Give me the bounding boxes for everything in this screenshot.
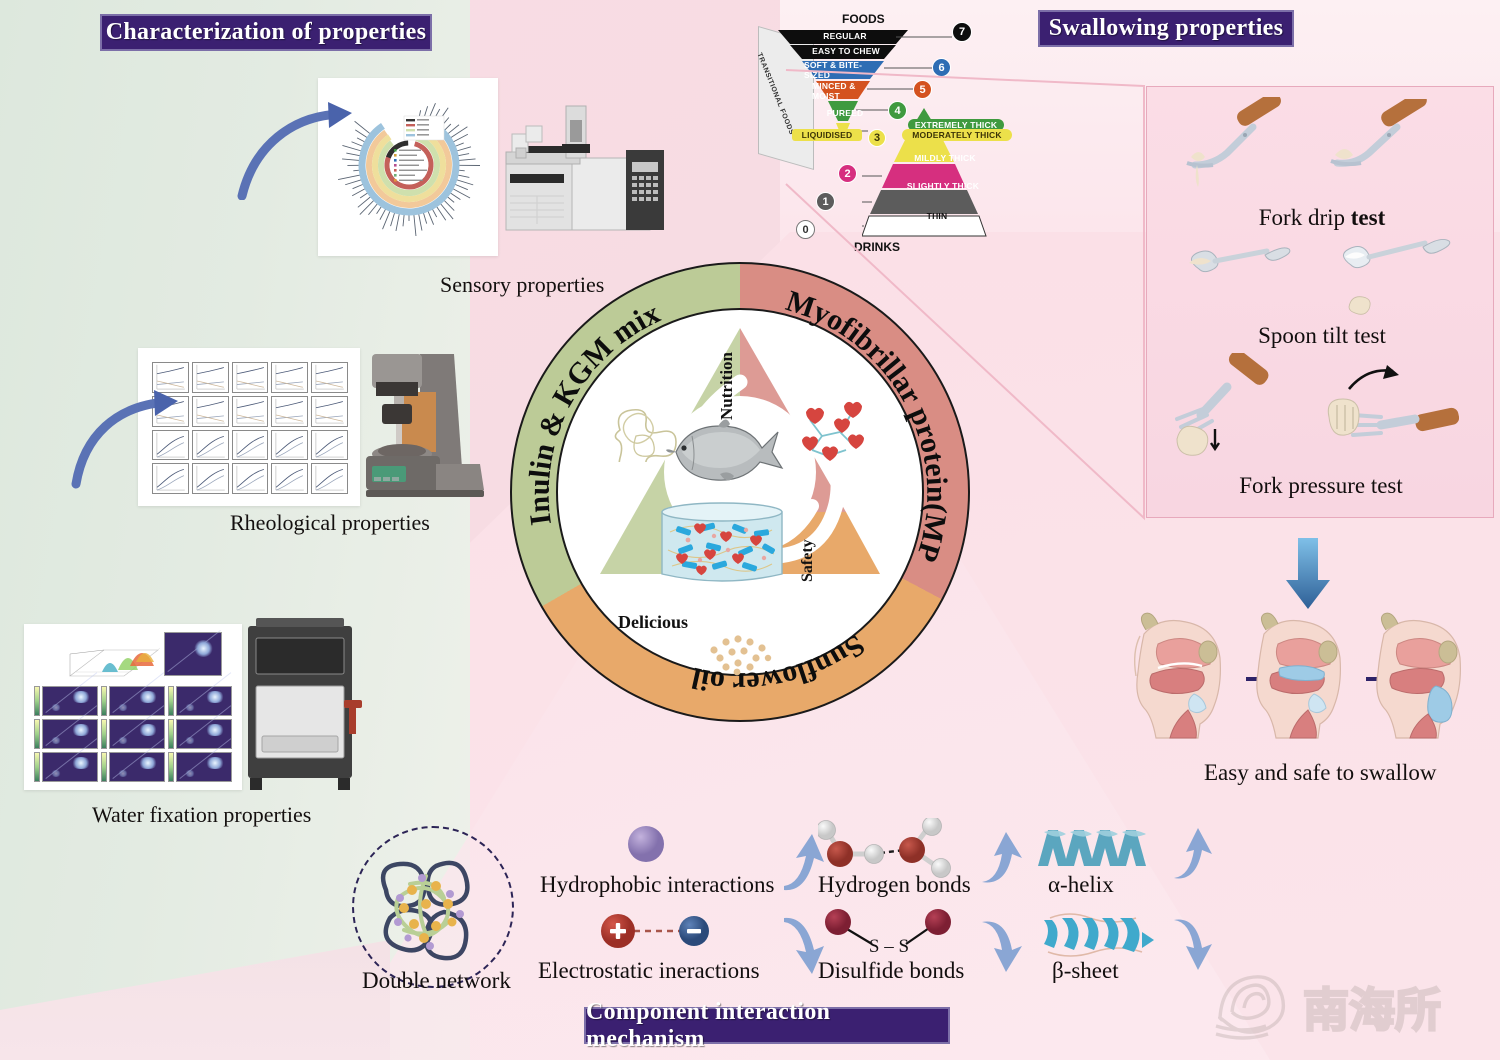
iddsi-badge-6: 6 (932, 58, 951, 77)
iddsi-framework-diagram: FOODS DRINKS TRANSITIONAL FOODS (756, 12, 1018, 258)
spoon-tilt-icon (1173, 239, 1293, 285)
rheology-mini-plot (311, 430, 348, 461)
fork-drip-test-label-bold: test (1351, 205, 1385, 230)
colorbar (168, 686, 174, 716)
caption-easy-safe-swallow: Easy and safe to swallow (1204, 760, 1437, 786)
swallow-stage-2-head (1248, 610, 1358, 740)
colorbar (168, 719, 174, 749)
colorbar (101, 686, 107, 716)
fork-pressure-test-label: Fork pressure test (1201, 473, 1441, 499)
nmr-analyzer-instrument (240, 616, 368, 792)
iddsi-drinks-header: DRINKS (854, 240, 900, 254)
rheology-mini-plot (311, 362, 348, 393)
rheology-mini-plot (232, 396, 269, 427)
caption-water-fixation-properties: Water fixation properties (92, 802, 311, 828)
iddsi-food-label-minced-moist: MINCED & MOIST (812, 85, 882, 97)
gc-ms-instrument (502, 104, 674, 242)
correlation-heatmap-cell (34, 752, 98, 782)
rheology-mini-plot (192, 430, 229, 461)
svg-text:S – S: S – S (869, 936, 909, 957)
central-formulation-wheel: Inulin & KGM mixture Myofibrillar protei… (510, 262, 970, 722)
beta-sheet-label: β-sheet (1052, 958, 1119, 984)
iddsi-badge-4: 4 (888, 101, 907, 120)
correlation-heatmap (176, 752, 232, 782)
down-arrow-icon (1285, 538, 1331, 610)
water-fixation-heatmap-grid (34, 686, 232, 782)
electrostatic-interactions-label: Electrostatic ineractions (538, 958, 760, 984)
spoon-tilt-empty-icon (1329, 233, 1453, 279)
swallow-stage-1-head (1128, 610, 1238, 740)
mech-arrow-down-2-icon (978, 914, 1026, 976)
iddsi-badge-1: 1 (816, 192, 835, 211)
disulfide-bond-icon: S – S (820, 908, 960, 962)
iddsi-drink-label-mildly-thick: MILDLY THICK (902, 152, 988, 164)
iddsi-badge-2: 2 (838, 164, 857, 183)
fork-drip-icon (1165, 97, 1295, 197)
rheology-mini-plot (232, 430, 269, 461)
rheology-mini-plot (232, 463, 269, 494)
correlation-heatmap-cell (168, 752, 232, 782)
3d-surface-plot (62, 632, 166, 684)
iddsi-foods-header: FOODS (842, 12, 885, 26)
caption-rheological-properties: Rheological properties (230, 510, 430, 536)
fork-drip-no-drip-icon (1307, 99, 1439, 189)
fish-illustration (658, 412, 786, 486)
correlation-heatmap (42, 752, 98, 782)
flow-arrow-to-rheology-icon (70, 380, 180, 490)
hydrogen-bond-icon (818, 818, 968, 878)
iddsi-drink-label-slightly-thick: SLIGHTLY THICK (896, 180, 990, 192)
fork-pressure-flattened-icon (1319, 363, 1459, 467)
rheology-mini-plot (271, 396, 308, 427)
iddsi-food-label-easy-to-chew: EASY TO CHEW (796, 45, 896, 57)
sensory-radial-chart (338, 94, 480, 236)
heatmap-thumb (164, 632, 222, 676)
rheology-mini-plot (271, 362, 308, 393)
fork-pressure-icon (1171, 353, 1301, 463)
swallow-stage-3-head (1368, 610, 1478, 740)
iddsi-badge-3: 3 (868, 129, 886, 147)
rheology-mini-plot (192, 463, 229, 494)
flow-arrow-to-sensory-icon (236, 100, 354, 200)
gel-beaker-illustration (654, 500, 790, 590)
graphical-abstract: Characterization of properties Swallowin… (0, 0, 1500, 1060)
oil-droplet-cluster-icon (706, 634, 780, 676)
beta-sheet-icon (1034, 908, 1162, 962)
colorbar (101, 719, 107, 749)
correlation-heatmap-cell (101, 752, 165, 782)
colorbar (101, 752, 107, 782)
iddsi-badge-5: 5 (913, 80, 932, 99)
alpha-helix-label: α-helix (1048, 872, 1114, 898)
hydrophobic-interactions-label: Hydrophobic interactions (540, 872, 774, 898)
hydrophobic-sphere-icon (624, 822, 668, 866)
rheometer-instrument (358, 348, 486, 502)
rheology-mini-plot (192, 362, 229, 393)
section-title-mechanism: Component interaction mechanism (584, 1007, 950, 1044)
correlation-heatmap (109, 752, 165, 782)
colorbar (34, 686, 40, 716)
fork-drip-test-label-plain: Fork drip (1259, 205, 1351, 230)
rheology-mini-plot (311, 396, 348, 427)
iddsi-food-label-regular: REGULAR (790, 30, 900, 42)
iddsi-food-label-soft-bite-sized: SOFT & BITE-SIZED (804, 64, 886, 76)
rheology-mini-plot (192, 396, 229, 427)
colorbar (168, 752, 174, 782)
section-title-swallowing: Swallowing properties (1038, 10, 1294, 47)
iddsi-food-label-liquidised: LIQUIDISED (792, 129, 862, 141)
double-network-label: Double network (362, 968, 511, 994)
mech-arrow-down-3-icon (1170, 912, 1216, 974)
iddsi-drink-label-moderately-thick: MODERATELY THICK (902, 129, 1012, 141)
iddsi-food-label-pureed: PUREED (816, 107, 874, 119)
iddsi-drink-label-thin: THIN (902, 210, 972, 222)
disulfide-bonds-label: Disulfide bonds (818, 958, 964, 984)
mech-arrow-up-2-icon (978, 828, 1026, 890)
rheology-mini-plot (232, 362, 269, 393)
institute-logo-watermark: 南海所 (1212, 968, 1484, 1046)
protein-heart-network-icon (788, 392, 874, 476)
rheology-mini-plot (311, 463, 348, 494)
colorbar (34, 752, 40, 782)
spoon-tilt-test-label: Spoon tilt test (1209, 323, 1435, 349)
colorbar (34, 719, 40, 749)
alpha-helix-icon (1034, 826, 1158, 874)
iddsi-badge-0: 0 (796, 220, 815, 239)
swallowing-tests-panel: Fork drip test Spoon tilt test (1146, 86, 1494, 518)
rheology-mini-plot (271, 463, 308, 494)
rheology-plot-grid (152, 362, 348, 494)
dropped-sample-icon (1345, 293, 1373, 315)
double-network-icon (364, 838, 502, 976)
hydrogen-bonds-label: Hydrogen bonds (818, 872, 971, 898)
fork-drip-test-label: Fork drip test (1207, 205, 1437, 231)
mech-arrow-up-1-icon (778, 830, 830, 894)
electrostatic-charges-icon (594, 908, 720, 954)
svg-text:南海所: 南海所 (1303, 984, 1441, 1036)
mech-arrow-up-3-icon (1170, 824, 1216, 886)
rheology-mini-plot (271, 430, 308, 461)
iddsi-badge-7: 7 (952, 22, 972, 42)
mech-arrow-down-1-icon (778, 914, 830, 978)
section-title-characterization: Characterization of properties (100, 14, 432, 51)
water-fixation-plot-card (24, 624, 242, 790)
